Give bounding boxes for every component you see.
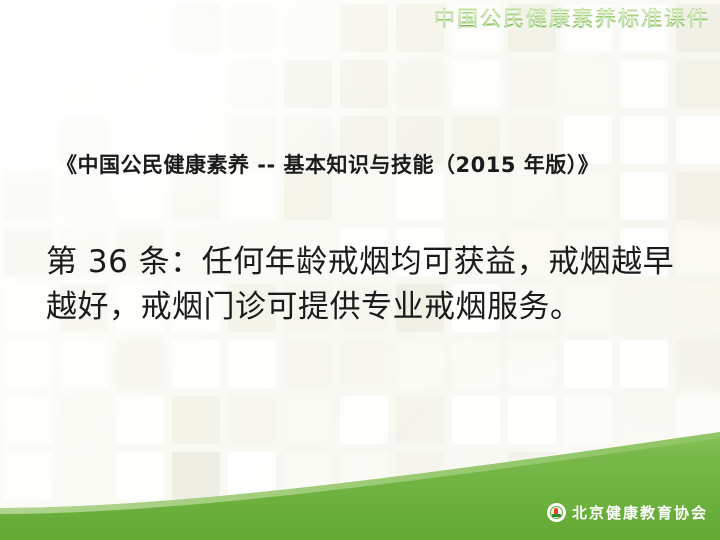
body-line-1: 第 36 条：任何年龄戒烟均可获益，戒烟越早 bbox=[46, 240, 696, 285]
slide-header: 中国公民健康素养标准课件 bbox=[0, 0, 720, 40]
body-paragraph: 第 36 条：任何年龄戒烟均可获益，戒烟越早 越好，戒烟门诊可提供专业戒烟服务。 bbox=[46, 240, 696, 330]
footer-green-wave bbox=[0, 430, 720, 540]
association-emblem-icon bbox=[547, 503, 566, 522]
header-title: 中国公民健康素养标准课件 bbox=[434, 7, 710, 33]
footer-wave-shape bbox=[0, 430, 720, 540]
footer-brand: 北京健康教育协会 bbox=[547, 503, 708, 522]
document-title: 《中国公民健康素养 -- 基本知识与技能（2015 年版）》 bbox=[56, 150, 599, 180]
body-line-2: 越好，戒烟门诊可提供专业戒烟服务。 bbox=[46, 285, 696, 330]
slide-canvas: 中国公民健康素养标准课件 《中国公民健康素养 -- 基本知识与技能（2015 年… bbox=[0, 0, 720, 540]
organization-name: 北京健康教育协会 bbox=[572, 504, 708, 522]
